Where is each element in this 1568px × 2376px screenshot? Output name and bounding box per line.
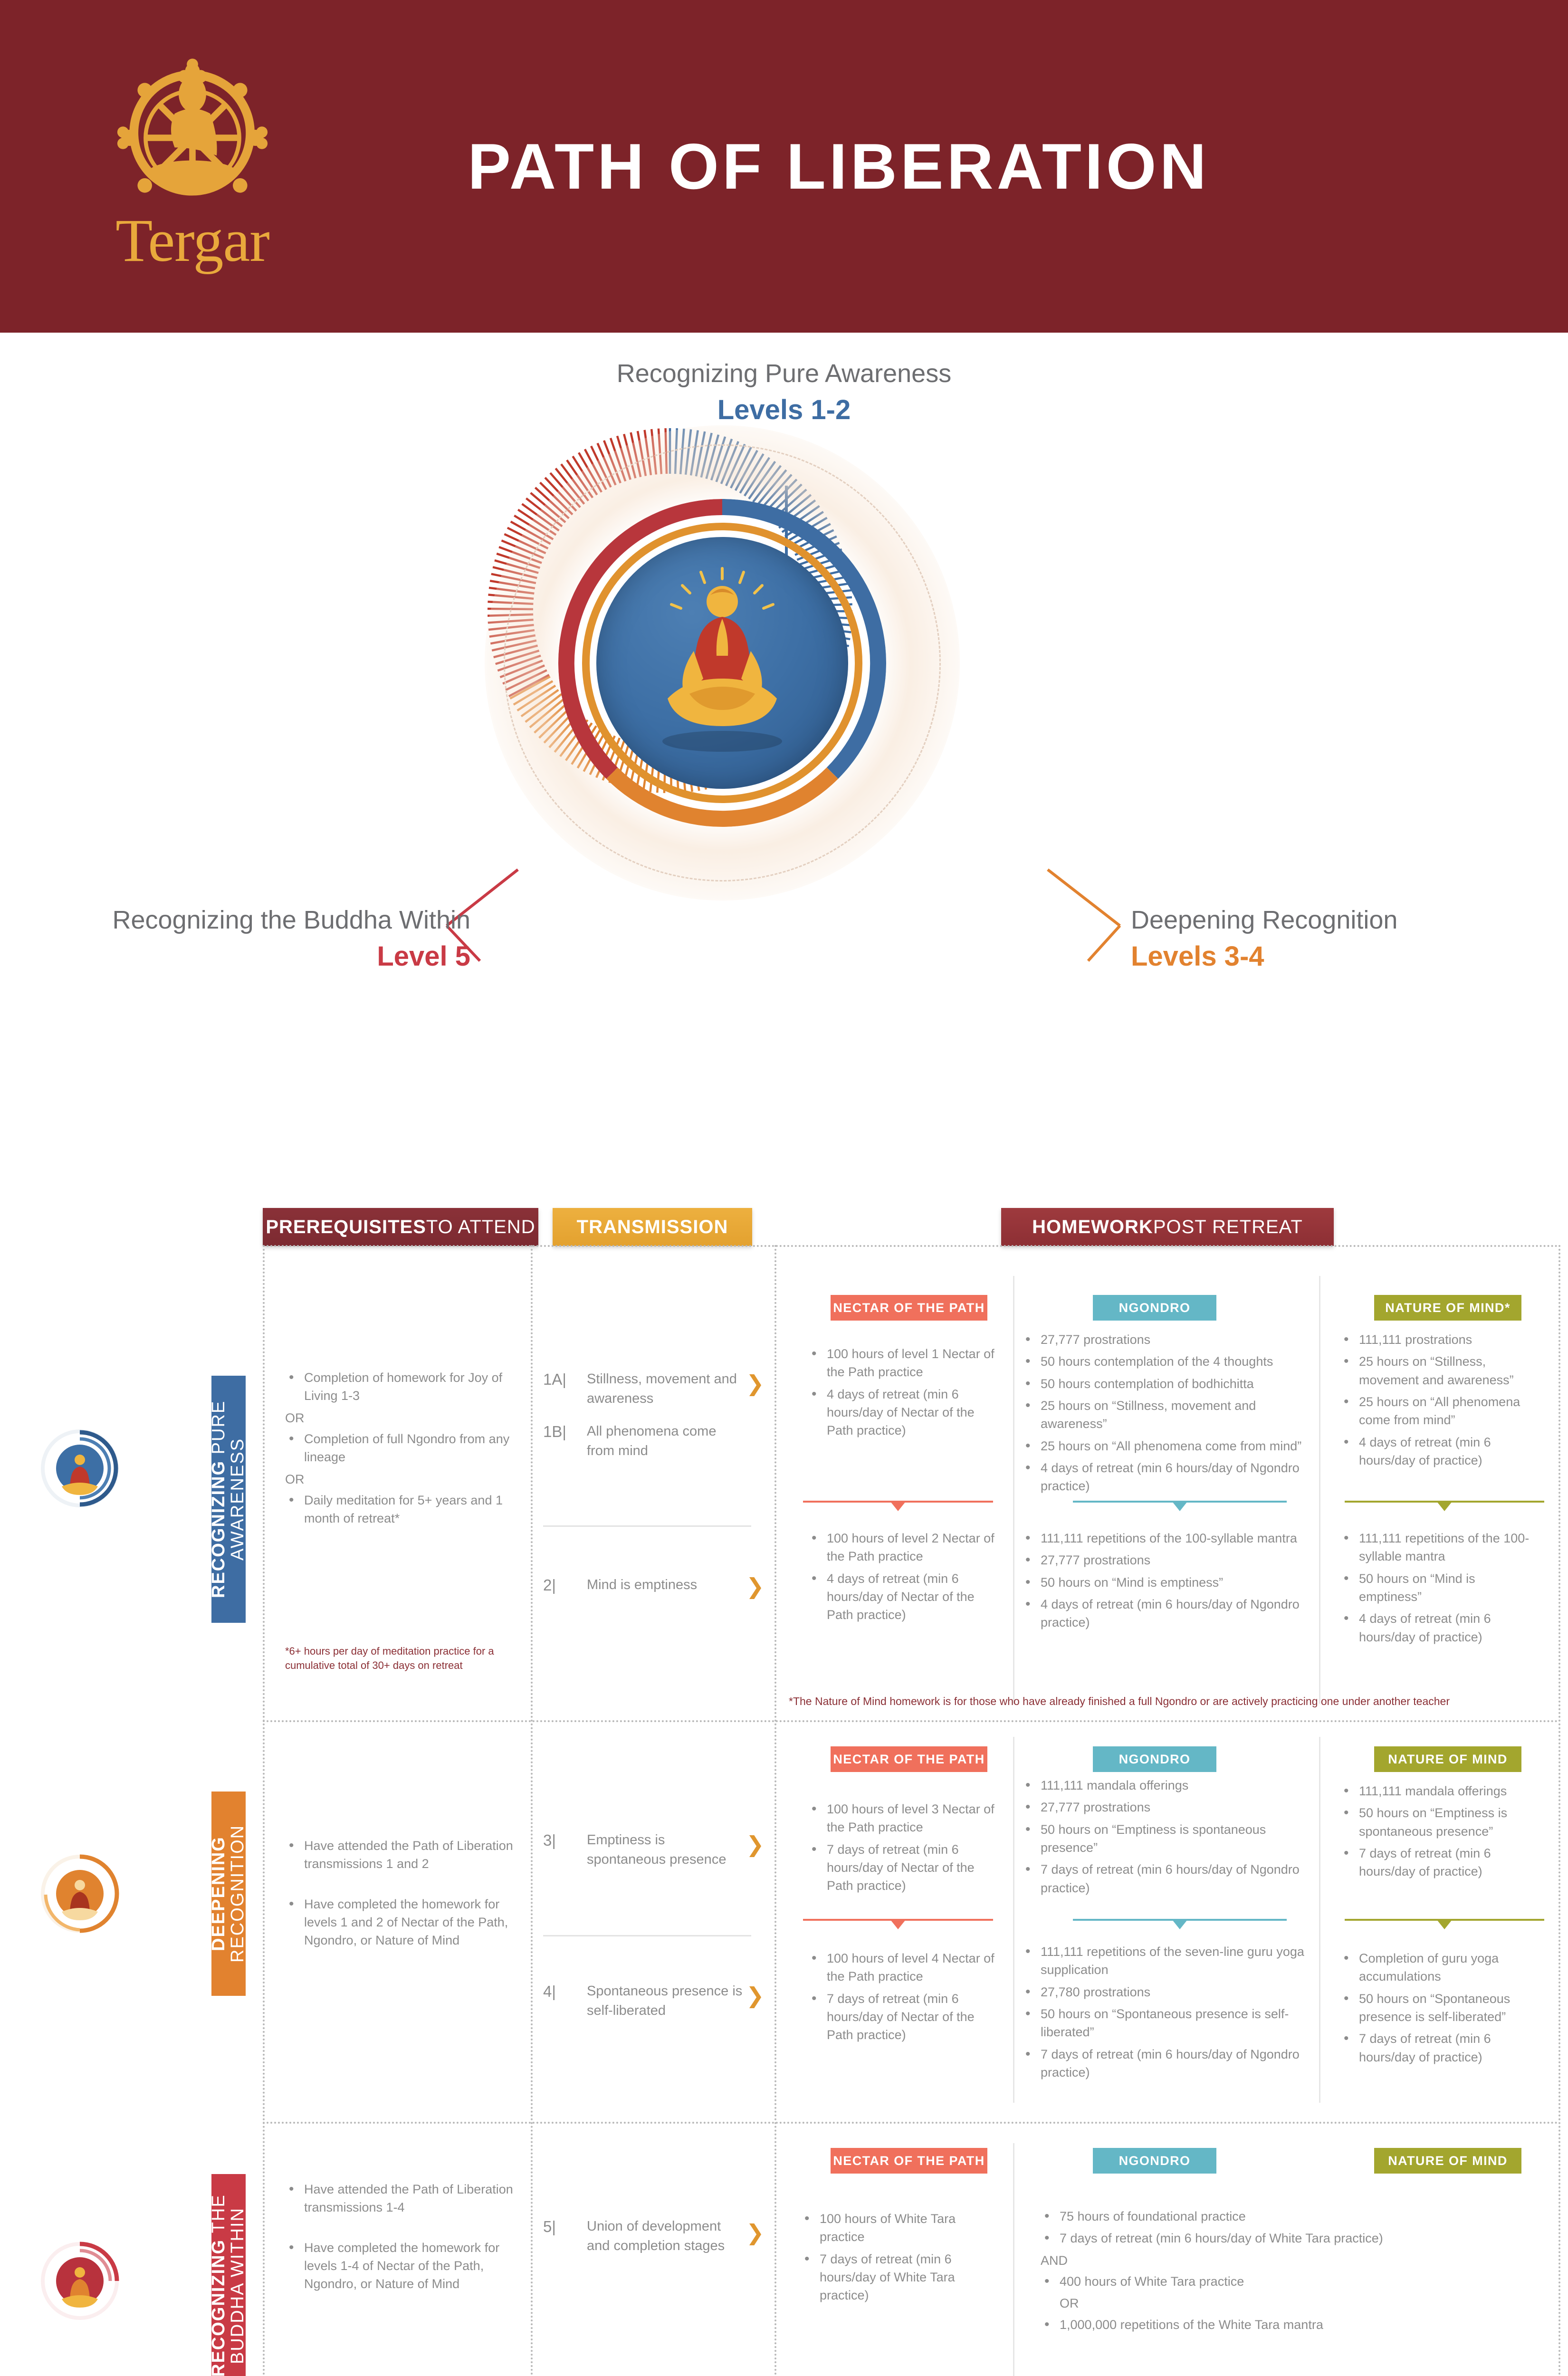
list-item: 50 hours contemplation of the 4 thoughts	[1022, 1352, 1316, 1370]
stage-tab-row3: RECOGNIZING THE BUDDHA WITHIN	[211, 2174, 246, 2376]
transmission-label: Emptiness is spontaneous presence	[587, 1830, 744, 1869]
transmission-number: 2|	[543, 1575, 587, 1596]
list-item: 1,000,000 repetitions of the White Tara …	[1041, 2316, 1416, 2334]
list-item: 7 days of retreat (min 6 hours/day of Wh…	[1041, 2229, 1416, 2247]
prerequisites-cell-row1: Completion of homework for Joy of Living…	[285, 1369, 523, 1532]
transmission-item-5[interactable]: 5| Union of development and completion s…	[543, 2217, 766, 2256]
chip-nectar-of-the-path-row2: NECTAR OF THE PATH	[831, 1746, 987, 1772]
diagram-label-top-levels: Levels 1-2	[0, 394, 1568, 426]
list-item: 7 days of retreat (min 6 hours/day of Ne…	[808, 1990, 1003, 2044]
homework-separator	[1013, 2143, 1014, 2376]
bullet-list: 100 hours of level 4 Nectar of the Path …	[808, 1949, 1003, 2044]
grid-line	[263, 2122, 1558, 2124]
list-item: 7 days of retreat (min 6 hours/day of Wh…	[801, 2250, 1000, 2305]
transmission-divider	[543, 1525, 751, 1527]
chip-nature-of-mind-row3: NATURE OF MIND	[1374, 2148, 1521, 2174]
list-item: 50 hours on “Emptiness is spontaneous pr…	[1022, 1820, 1316, 1857]
homework-nectar-upper-row1: 100 hours of level 1 Nectar of the Path …	[808, 1345, 1003, 1444]
list-item: 25 hours on “Stillness, movement and awa…	[1340, 1352, 1539, 1389]
transmission-item-3[interactable]: 3| Emptiness is spontaneous presence	[543, 1830, 766, 1869]
grid-line	[263, 1245, 265, 2376]
bullet-list: 400 hours of White Tara practice	[1041, 2272, 1416, 2290]
diagram-label-right-levels: Levels 3-4	[1131, 940, 1558, 972]
bullet-list: 111,111 repetitions of the 100-syllable …	[1340, 1529, 1539, 1646]
list-item: 27,780 prostrations	[1022, 1983, 1316, 2001]
connector-and: AND	[1041, 2251, 1416, 2270]
homework-separator	[1319, 1276, 1320, 1704]
transmission-item-1a[interactable]: 1A| Stillness, movement and awareness	[543, 1370, 766, 1408]
stage-tab-row1: RECOGNIZING PURE AWARENESS	[211, 1376, 246, 1623]
bullet-list: 100 hours of level 3 Nectar of the Path …	[808, 1800, 1003, 1895]
stage-tab-row2: DEEPENING RECOGNITION	[211, 1792, 246, 1996]
diagram-label-top: Recognizing Pure Awareness Levels 1-2	[0, 359, 1568, 426]
bullet-list: Have attended the Path of Liberation tra…	[285, 1837, 523, 1950]
transmission-number: 4|	[543, 1982, 587, 2002]
list-item: 100 hours of level 2 Nectar of the Path …	[808, 1529, 1003, 1566]
grid-line	[774, 1245, 776, 2376]
list-item: 25 hours on “Stillness, movement and awa…	[1022, 1397, 1316, 1433]
list-item: 4 days of retreat (min 6 hours/day of Ne…	[808, 1570, 1003, 1624]
list-item: 100 hours of level 4 Nectar of the Path …	[808, 1949, 1003, 1986]
stage-badge-recognizing-buddha-within-icon	[37, 2238, 123, 2324]
page-header: Tergar PATH OF LIBERATION	[0, 0, 1568, 333]
homework-ngondro-lower-row1: 111,111 repetitions of the 100-syllable …	[1022, 1529, 1316, 1636]
list-item: 4 days of retreat (min 6 hours/day of pr…	[1340, 1610, 1539, 1646]
chevron-right-icon[interactable]: ❯	[746, 2222, 765, 2243]
list-item: 27,777 prostrations	[1022, 1551, 1316, 1569]
diagram-label-left-title: Recognizing the Buddha Within	[19, 905, 470, 935]
list-item: 50 hours on “Mind is emptiness”	[1340, 1570, 1539, 1606]
mandala-graphic	[485, 425, 960, 901]
bullet-list: 27,777 prostrations 50 hours contemplati…	[1022, 1331, 1316, 1495]
bullet-list: 100 hours of level 1 Nectar of the Path …	[808, 1345, 1003, 1440]
bullet-list: 111,111 mandala offerings 27,777 prostra…	[1022, 1776, 1316, 1897]
transmission-number: 5|	[543, 2217, 587, 2237]
homework-ngondro-upper-row1: 27,777 prostrations 50 hours contemplati…	[1022, 1331, 1316, 1499]
list-item: 50 hours on “Spontaneous presence is sel…	[1340, 1990, 1539, 2026]
prerequisites-cell-row2: Have attended the Path of Liberation tra…	[285, 1837, 523, 1954]
list-item: Completion of homework for Joy of Living…	[285, 1369, 523, 1405]
homework-nectar-row3: 100 hours of White Tara practice 7 days …	[801, 2210, 1000, 2309]
grid-line	[1558, 1245, 1560, 2376]
chip-ngondro-row2: NGONDRO	[1093, 1746, 1216, 1772]
seated-meditator-icon	[596, 537, 848, 789]
grid-line	[263, 1245, 1558, 1247]
chip-nature-of-mind-row2: NATURE OF MIND	[1374, 1746, 1521, 1772]
transmission-item-2[interactable]: 2| Mind is emptiness	[543, 1575, 766, 1596]
homework-nom-lower-row1: 111,111 repetitions of the 100-syllable …	[1340, 1529, 1539, 1650]
stage-badge-deepening-recognition-icon	[37, 1851, 123, 1936]
mandala-diagram: Recognizing Pure Awareness Levels 1-2 Re…	[0, 333, 1568, 1178]
list-item: Daily meditation for 5+ years and 1 mont…	[285, 1491, 523, 1528]
transmission-label: Mind is emptiness	[587, 1575, 744, 1595]
prerequisites-list-row1-a: Completion of homework for Joy of Living…	[285, 1369, 523, 1405]
list-item: 4 days of retreat (min 6 hours/day of Ng…	[1022, 1459, 1316, 1495]
list-item: 111,111 mandala offerings	[1340, 1782, 1539, 1800]
list-item: 50 hours contemplation of bodhichitta	[1022, 1375, 1316, 1393]
transmission-label: Spontaneous presence is self-liberated	[587, 1982, 744, 2021]
transmission-number: 3|	[543, 1830, 587, 1851]
list-item: 100 hours of level 1 Nectar of the Path …	[808, 1345, 1003, 1381]
list-item: 50 hours on “Emptiness is spontaneous pr…	[1340, 1804, 1539, 1840]
diagram-label-right-title: Deepening Recognition	[1131, 905, 1558, 935]
transmission-label: All phenomena come from mind	[587, 1422, 744, 1461]
chevron-right-icon[interactable]: ❯	[746, 1833, 765, 1855]
diagram-label-top-title: Recognizing Pure Awareness	[0, 359, 1568, 388]
list-item: 7 days of retreat (min 6 hours/day of Ng…	[1022, 1860, 1316, 1897]
chevron-right-icon[interactable]: ❯	[746, 1575, 765, 1597]
list-item: 7 days of retreat (min 6 hours/day of Ng…	[1022, 2045, 1316, 2082]
list-item: 27,777 prostrations	[1022, 1798, 1316, 1816]
list-item: 4 days of retreat (min 6 hours/day of Ne…	[808, 1385, 1003, 1440]
list-item: 111,111 repetitions of the 100-syllable …	[1340, 1529, 1539, 1566]
chip-nature-of-mind-row1: NATURE OF MIND*	[1374, 1295, 1521, 1321]
prerequisites-list-row1-c: Daily meditation for 5+ years and 1 mont…	[285, 1491, 523, 1528]
list-item: 111,111 repetitions of the 100-syllable …	[1022, 1529, 1316, 1547]
list-item: Have attended the Path of Liberation tra…	[285, 2180, 523, 2217]
list-item: 4 days of retreat (min 6 hours/day of Ng…	[1022, 1595, 1316, 1632]
page-title: PATH OF LIBERATION	[0, 0, 1568, 333]
transmission-label: Union of development and completion stag…	[587, 2217, 744, 2256]
homework-footnote-row1: *The Nature of Mind homework is for thos…	[789, 1694, 1549, 1709]
list-item: 25 hours on “All phenomena come from min…	[1022, 1437, 1316, 1455]
transmission-number: 1B|	[543, 1422, 587, 1442]
homework-nectar-lower-row1: 100 hours of level 2 Nectar of the Path …	[808, 1529, 1003, 1628]
homework-separator	[1319, 1737, 1320, 2103]
transmission-item-4[interactable]: 4| Spontaneous presence is self-liberate…	[543, 1982, 766, 2021]
diagram-label-right: Deepening Recognition Levels 3-4	[1131, 905, 1558, 972]
bullet-list: 75 hours of foundational practice 7 days…	[1041, 2207, 1416, 2248]
list-item: 4 days of retreat (min 6 hours/day of pr…	[1340, 1433, 1539, 1470]
diagram-label-left-levels: Level 5	[19, 940, 470, 972]
chip-nectar-of-the-path-row3: NECTAR OF THE PATH	[831, 2148, 987, 2174]
list-item: Have completed the homework for levels 1…	[285, 1895, 523, 1950]
list-item: 75 hours of foundational practice	[1041, 2207, 1416, 2225]
list-item: Have attended the Path of Liberation tra…	[285, 1837, 523, 1873]
chevron-right-icon[interactable]: ❯	[746, 1984, 765, 2006]
bullet-list: 111,111 prostrations 25 hours on “Stilln…	[1340, 1331, 1539, 1469]
prerequisites-list-row1-b: Completion of full Ngondro from any line…	[285, 1430, 523, 1466]
list-item: 7 days of retreat (min 6 hours/day of pr…	[1340, 2030, 1539, 2066]
bullet-list: Completion of guru yoga accumulations 50…	[1340, 1949, 1539, 2066]
bullet-list: 111,111 repetitions of the 100-syllable …	[1022, 1529, 1316, 1632]
homework-separator	[1013, 1276, 1014, 1704]
list-item: 50 hours on “Mind is emptiness”	[1022, 1573, 1316, 1591]
list-item: 111,111 mandala offerings	[1022, 1776, 1316, 1794]
list-item: 111,111 repetitions of the seven-line gu…	[1022, 1943, 1316, 1979]
connector-or: OR	[285, 1470, 523, 1488]
bullet-list: Have attended the Path of Liberation tra…	[285, 2180, 523, 2293]
grid-line	[531, 1245, 533, 2376]
chip-nectar-of-the-path-row1: NECTAR OF THE PATH	[831, 1295, 987, 1321]
prerequisites-footnote-row1: *6+ hours per day of meditation practice…	[285, 1644, 508, 1672]
bullet-list: 100 hours of level 2 Nectar of the Path …	[808, 1529, 1003, 1624]
list-item: Completion of full Ngondro from any line…	[285, 1430, 523, 1466]
list-item: 7 days of retreat (min 6 hours/day of Ne…	[808, 1840, 1003, 1895]
list-item: 100 hours of level 3 Nectar of the Path …	[808, 1800, 1003, 1837]
prerequisites-cell-row3: Have attended the Path of Liberation tra…	[285, 2180, 523, 2297]
list-item: Completion of guru yoga accumulations	[1340, 1949, 1539, 1986]
list-item: 7 days of retreat (min 6 hours/day of pr…	[1340, 1844, 1539, 1881]
meditator-orb	[596, 537, 848, 789]
homework-nom-lower-row2: Completion of guru yoga accumulations 50…	[1340, 1949, 1539, 2070]
diagram-label-left: Recognizing the Buddha Within Level 5	[19, 905, 470, 972]
chevron-right-icon[interactable]: ❯	[746, 1372, 765, 1394]
list-item: 25 hours on “All phenomena come from min…	[1340, 1393, 1539, 1429]
homework-nom-upper-row2: 111,111 mandala offerings 50 hours on “E…	[1340, 1782, 1539, 1885]
connector-or: OR	[1041, 2294, 1416, 2312]
homework-nectar-upper-row2: 100 hours of level 3 Nectar of the Path …	[808, 1800, 1003, 1899]
transmission-label: Stillness, movement and awareness	[587, 1370, 744, 1408]
list-item: 50 hours on “Spontaneous presence is sel…	[1022, 2005, 1316, 2041]
connector-or: OR	[285, 1409, 523, 1427]
column-header-transmission: TRANSMISSION	[553, 1208, 752, 1246]
list-item: 27,777 prostrations	[1022, 1331, 1316, 1349]
transmission-item-1b[interactable]: 1B| All phenomena come from mind	[543, 1422, 766, 1461]
bullet-list: 100 hours of White Tara practice 7 days …	[801, 2210, 1000, 2305]
list-item: 100 hours of White Tara practice	[801, 2210, 1000, 2246]
homework-nom-upper-row1: 111,111 prostrations 25 hours on “Stilln…	[1340, 1331, 1539, 1473]
bullet-list: 111,111 mandala offerings 50 hours on “E…	[1340, 1782, 1539, 1881]
transmission-divider	[543, 1935, 751, 1936]
column-header-homework: HOMEWORK POST RETREAT	[1001, 1208, 1334, 1246]
bullet-list: 1,000,000 repetitions of the White Tara …	[1041, 2316, 1416, 2334]
list-item: 111,111 prostrations	[1340, 1331, 1539, 1349]
stage-badge-recognizing-pure-awareness-icon	[37, 1426, 123, 1511]
homework-ngondro-row3: 75 hours of foundational practice 7 days…	[1041, 2207, 1416, 2338]
transmission-number: 1A|	[543, 1370, 587, 1390]
homework-separator	[1013, 1737, 1014, 2103]
chip-ngondro-row3: NGONDRO	[1093, 2148, 1216, 2174]
chip-ngondro-row1: NGONDRO	[1093, 1295, 1216, 1321]
homework-nectar-lower-row2: 100 hours of level 4 Nectar of the Path …	[808, 1949, 1003, 2048]
column-header-prerequisites: PREREQUISITES TO ATTEND	[263, 1208, 538, 1246]
homework-ngondro-lower-row2: 111,111 repetitions of the seven-line gu…	[1022, 1943, 1316, 2085]
program-table: PREREQUISITES TO ATTEND TRANSMISSION HOM…	[0, 1193, 1568, 2376]
list-item: 400 hours of White Tara practice	[1041, 2272, 1416, 2290]
homework-ngondro-upper-row2: 111,111 mandala offerings 27,777 prostra…	[1022, 1776, 1316, 1901]
bullet-list: 111,111 repetitions of the seven-line gu…	[1022, 1943, 1316, 2081]
list-item: Have completed the homework for levels 1…	[285, 2239, 523, 2293]
grid-line	[263, 1720, 1558, 1722]
